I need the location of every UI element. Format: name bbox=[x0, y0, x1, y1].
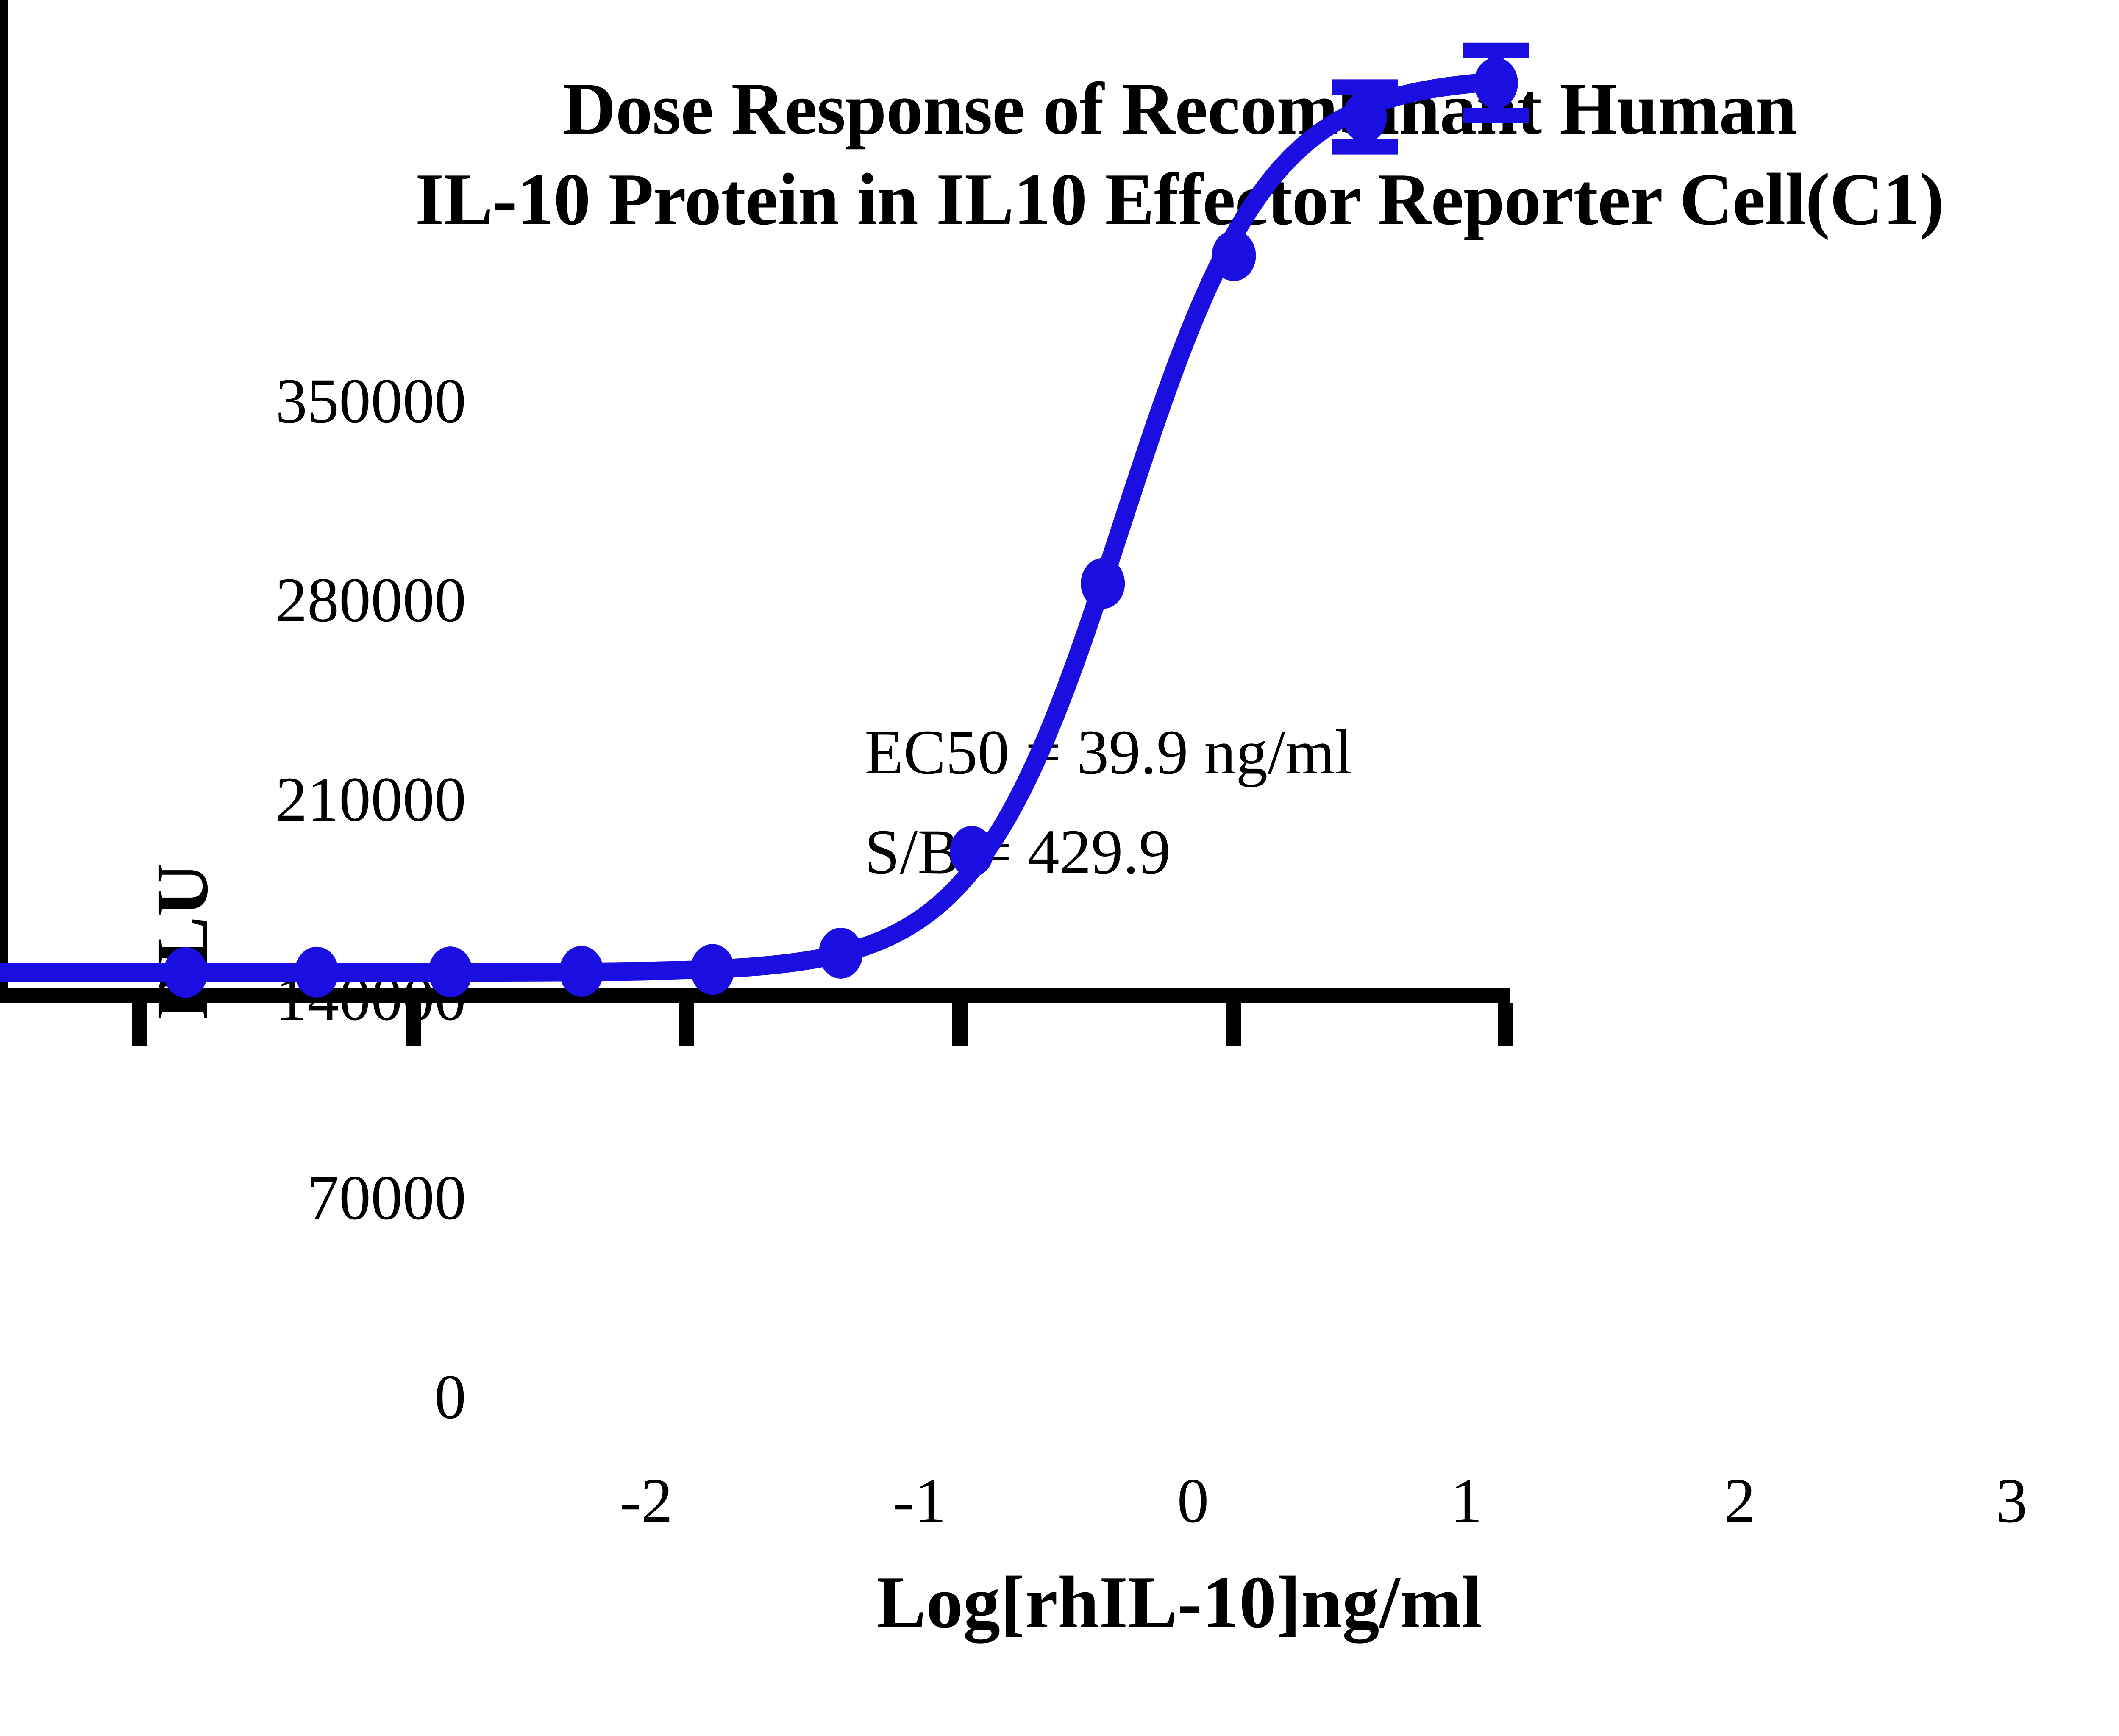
x-axis-title: Log[rhIL-10]ng/ml bbox=[0, 1560, 2119, 1645]
data-point-marker bbox=[1212, 230, 1256, 281]
x-tick-minus2 bbox=[132, 1003, 147, 1046]
x-tick-1 bbox=[952, 1003, 968, 1046]
data-point-marker bbox=[950, 826, 994, 877]
x-tick-0 bbox=[679, 1003, 694, 1046]
x-tick-label-3: 3 bbox=[1927, 1464, 2097, 1537]
chart-figure: Dose Response of Recombinant Human IL-10… bbox=[0, 0, 2119, 1736]
y-axis-spine bbox=[0, 0, 8, 996]
data-point-marker bbox=[1474, 58, 1518, 108]
plot-canvas bbox=[0, 0, 1510, 996]
axis-spines bbox=[0, 0, 1510, 1003]
x-tick-label-0: 0 bbox=[1108, 1464, 1278, 1537]
x-tick-label-minus2: -2 bbox=[562, 1464, 731, 1537]
x-tick-3 bbox=[1498, 1003, 1513, 1046]
data-point-marker bbox=[559, 946, 603, 997]
data-point-marker bbox=[1343, 92, 1387, 142]
x-tick-2 bbox=[1226, 1003, 1241, 1046]
x-axis-spine bbox=[0, 988, 1510, 1003]
data-point-marker bbox=[690, 944, 734, 995]
data-point-markers bbox=[164, 58, 1518, 998]
y-tick-label-70000: 70000 bbox=[85, 1161, 466, 1234]
dose-response-curve bbox=[0, 81, 1496, 972]
data-point-marker bbox=[819, 928, 863, 979]
x-tick-label-2: 2 bbox=[1655, 1464, 1824, 1537]
x-tick-label-minus1: -1 bbox=[835, 1464, 1004, 1537]
x-tick-minus1 bbox=[406, 1003, 421, 1046]
data-point-marker bbox=[1081, 558, 1125, 609]
y-tick-label-0: 0 bbox=[85, 1360, 466, 1433]
data-point-marker bbox=[164, 947, 208, 998]
x-tick-label-1: 1 bbox=[1382, 1464, 1551, 1537]
data-point-marker bbox=[428, 946, 473, 997]
data-point-marker bbox=[295, 947, 339, 998]
